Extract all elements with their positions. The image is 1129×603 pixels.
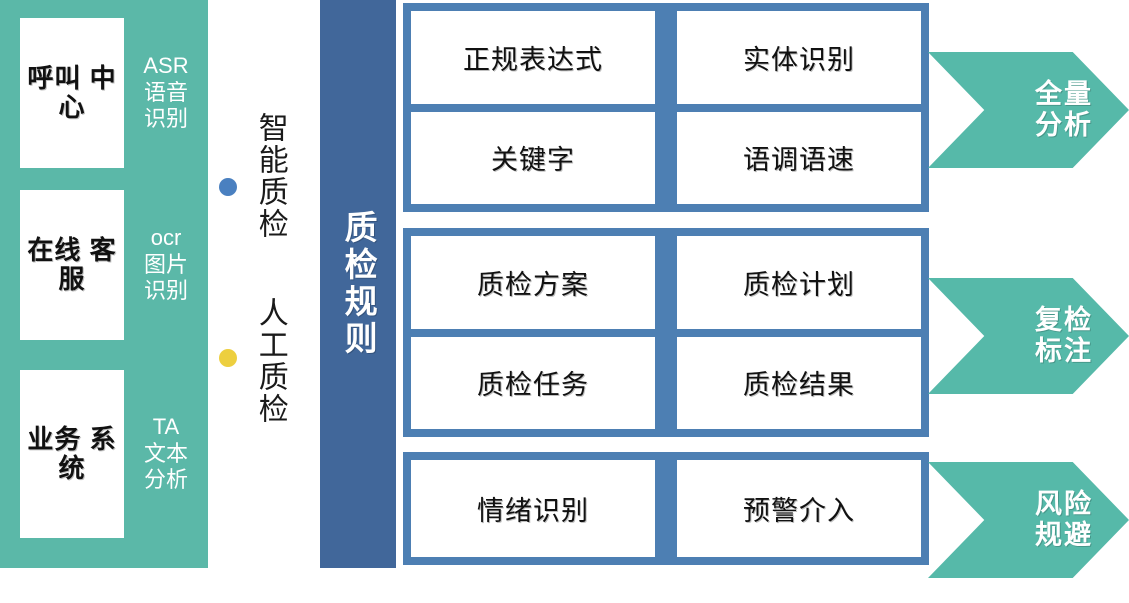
source-tag-line: TA — [144, 414, 188, 441]
capability-cell[interactable]: 关键字 — [411, 112, 655, 205]
outcome-label-line: 复检 — [1035, 305, 1093, 336]
source-tag-line: 图片 — [144, 252, 188, 279]
diagram-canvas: 呼叫 中心 ASR 语音 识别 在线 客服 ocr 图片 识别 — [0, 0, 1129, 603]
workflow-cell[interactable]: 质检计划 — [677, 236, 921, 329]
yellow-bullet-icon — [219, 349, 237, 367]
workflow-cell[interactable]: 质检任务 — [411, 337, 655, 430]
mode-label-intelligent: 智能质检 — [252, 112, 287, 240]
source-box-business-system[interactable]: 业务 系统 — [20, 370, 124, 538]
outcome-chevron-full-analysis[interactable]: 全量 分析 — [928, 52, 1129, 168]
quality-rules-bar[interactable]: 质检规则 — [320, 0, 396, 568]
source-tag-line: 识别 — [144, 278, 188, 305]
workflow-cell[interactable]: 质检结果 — [677, 337, 921, 430]
source-tag-line: ocr — [144, 225, 188, 252]
outcome-chevron-risk-avoidance[interactable]: 风险 规避 — [928, 462, 1129, 578]
blue-bullet-icon — [219, 178, 237, 196]
data-sources-panel: 呼叫 中心 ASR 语音 识别 在线 客服 ocr 图片 识别 — [0, 0, 208, 568]
risk-cell[interactable]: 预警介入 — [677, 460, 921, 557]
capability-cell[interactable]: 正规表达式 — [411, 11, 655, 104]
source-title-line: 业务 — [27, 424, 81, 454]
group-risk-capabilities: 情绪识别 预警介入 — [403, 452, 929, 565]
source-title-online-service: 在线 客服 — [20, 236, 124, 294]
group-inspection-workflow: 质检方案 质检计划 质检任务 质检结果 — [403, 228, 929, 437]
source-tag-line: 文本 — [144, 441, 188, 468]
source-tag-line: 分析 — [144, 467, 188, 494]
source-tag-line: 识别 — [143, 106, 188, 133]
outcome-chevron-recheck-annotation[interactable]: 复检 标注 — [928, 278, 1129, 394]
source-box-call-center[interactable]: 呼叫 中心 — [20, 18, 124, 168]
quality-rules-label: 质检规则 — [340, 210, 376, 358]
outcome-label-line: 风险 — [1035, 489, 1093, 520]
outcome-label-risk-avoidance: 风险 规避 — [1035, 489, 1093, 552]
outcome-label-line: 全量 — [1035, 79, 1093, 110]
source-tag-asr: ASR 语音 识别 — [130, 18, 202, 168]
source-title-business-system: 业务 系统 — [20, 425, 124, 483]
source-box-online-service[interactable]: 在线 客服 — [20, 190, 124, 340]
outcome-label-line: 标注 — [1035, 336, 1093, 367]
source-title-call-center: 呼叫 中心 — [20, 64, 124, 122]
source-tag-line: 语音 — [143, 80, 188, 107]
capability-cell[interactable]: 语调语速 — [677, 112, 921, 205]
source-title-line: 在线 — [27, 235, 81, 265]
source-tag-ocr: ocr 图片 识别 — [130, 190, 202, 340]
outcome-label-line: 分析 — [1035, 110, 1093, 141]
source-title-line: 呼叫 — [27, 63, 81, 93]
outcome-label-recheck-annotation: 复检 标注 — [1035, 305, 1093, 368]
capability-cell[interactable]: 实体识别 — [677, 11, 921, 104]
outcome-label-line: 规避 — [1035, 520, 1093, 551]
mode-label-manual: 人工质检 — [252, 297, 287, 425]
group-engine-capabilities: 正规表达式 实体识别 关键字 语调语速 — [403, 3, 929, 212]
outcome-label-full-analysis: 全量 分析 — [1035, 79, 1093, 142]
source-tag-line: ASR — [143, 53, 188, 80]
risk-cell[interactable]: 情绪识别 — [411, 460, 655, 557]
workflow-cell[interactable]: 质检方案 — [411, 236, 655, 329]
source-tag-ta: TA 文本 分析 — [130, 370, 202, 538]
